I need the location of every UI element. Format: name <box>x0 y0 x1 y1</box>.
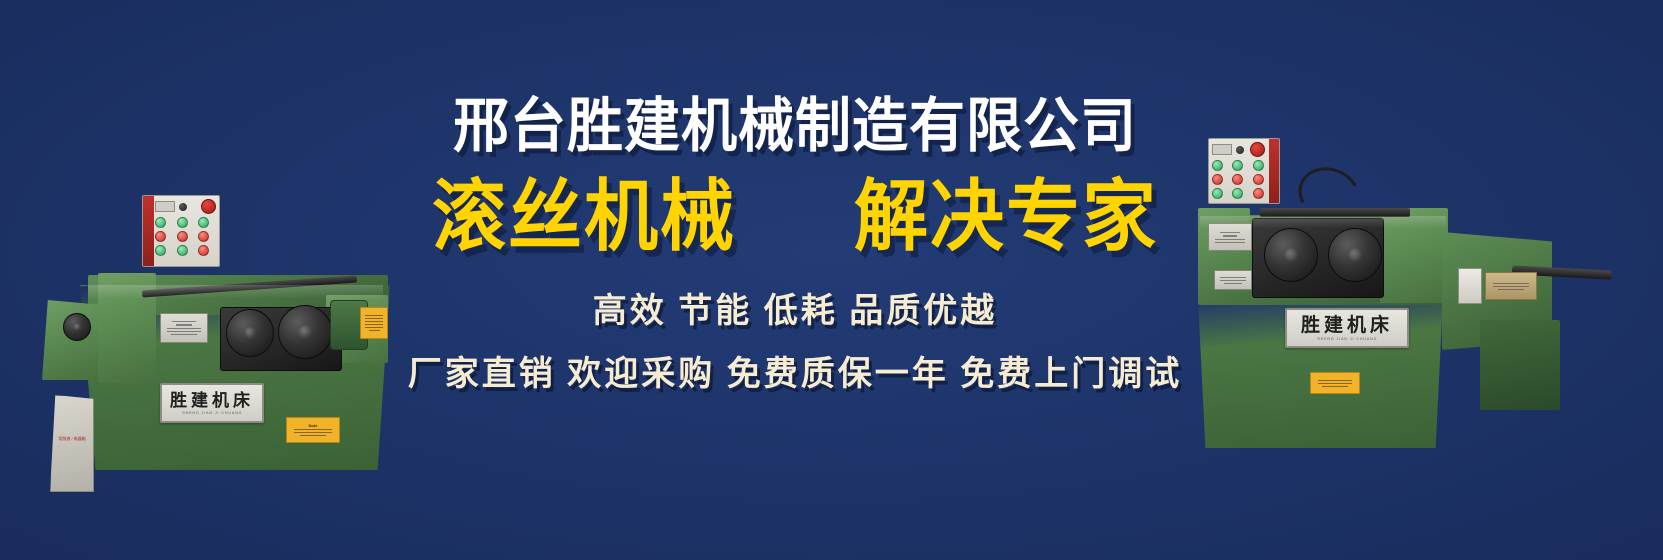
machine-right-roller-1 <box>1264 228 1318 282</box>
emergency-stop-button[interactable] <box>201 199 216 214</box>
side-cabinet-text: 切削液 / 电器箱 <box>51 436 93 442</box>
machine-right-brass-plate <box>1485 272 1537 300</box>
panel-top-row <box>1212 142 1269 157</box>
panel-button[interactable] <box>1212 188 1223 199</box>
warning-label-title: Note <box>309 423 318 428</box>
machine-left-roller-1 <box>226 309 274 357</box>
tagline-secondary: 厂家直销 欢迎采购 免费质保一年 免费上门调试 <box>395 346 1195 395</box>
panel-button-grid <box>155 217 216 256</box>
panel-button[interactable] <box>1232 174 1243 185</box>
panel-button[interactable] <box>155 245 166 256</box>
panel-button[interactable] <box>155 231 166 242</box>
slogan-right: 解决专家 <box>854 176 1158 258</box>
panel-button-grid <box>1212 160 1269 199</box>
machine-left-spec-plate <box>160 313 208 343</box>
emergency-stop-button[interactable] <box>1250 142 1265 157</box>
machine-left-control-panel <box>142 195 220 267</box>
panel-button[interactable] <box>177 245 188 256</box>
panel-button[interactable] <box>198 217 209 228</box>
machine-right-nameplate: 胜建机床 SHENG JIAN JI CHUANG <box>1285 308 1409 348</box>
panel-top-row <box>155 199 216 214</box>
machine-left-spindle-left <box>63 313 91 341</box>
panel-red-side <box>1269 139 1279 203</box>
machine-left-photo: 切削液 / 电器箱 <box>30 95 420 470</box>
panel-button[interactable] <box>1253 160 1264 171</box>
promo-banner: 切削液 / 电器箱 <box>0 0 1663 560</box>
nameplate-pinyin: SHENG JIAN JI CHUANG <box>182 411 242 415</box>
machine-left-nameplate: 胜建机床 SHENG JIAN JI CHUANG <box>160 383 264 423</box>
banner-text-block: 邢台胜建机械制造有限公司 滚丝机械 解决专家 高效 节能 低耗 品质优越 厂家直… <box>395 95 1195 425</box>
nameplate-chinese: 胜建机床 <box>170 392 254 409</box>
panel-knob-icon <box>179 203 187 211</box>
machine-left-spec-label <box>360 307 388 339</box>
machine-left-highlight <box>88 285 383 299</box>
machine-right-photo: 胜建机床 SHENG JIAN JI CHUANG <box>1180 120 1635 450</box>
panel-button[interactable] <box>198 245 209 256</box>
machine-right-spec-plate-2 <box>1214 270 1252 290</box>
panel-display <box>1212 144 1232 155</box>
panel-button[interactable] <box>1212 174 1223 185</box>
machine-right-highlight <box>1200 216 1446 228</box>
slogan-row: 滚丝机械 解决专家 <box>395 176 1195 254</box>
panel-button[interactable] <box>177 231 188 242</box>
machine-left-side-cabinet: 切削液 / 电器箱 <box>50 395 94 492</box>
panel-button[interactable] <box>155 217 166 228</box>
slogan-left: 滚丝机械 <box>432 176 736 258</box>
panel-button[interactable] <box>1212 160 1223 171</box>
panel-button[interactable] <box>1232 160 1243 171</box>
panel-display <box>155 201 175 212</box>
company-name: 邢台胜建机械制造有限公司 <box>395 95 1195 157</box>
machine-left-roller-2 <box>278 305 332 359</box>
machine-left-warning-label: Note <box>286 417 340 443</box>
panel-red-side <box>143 196 154 266</box>
machine-right-control-panel <box>1208 138 1280 204</box>
panel-button[interactable] <box>177 217 188 228</box>
panel-button[interactable] <box>1232 188 1243 199</box>
machine-right-roller-2 <box>1328 228 1382 282</box>
nameplate-pinyin: SHENG JIAN JI CHUANG <box>1317 337 1377 341</box>
machine-right-outfeed-lower <box>1480 320 1560 410</box>
nameplate-chinese: 胜建机床 <box>1301 316 1393 335</box>
panel-button[interactable] <box>198 231 209 242</box>
machine-right-warning-label <box>1310 372 1360 394</box>
tagline-primary: 高效 节能 低耗 品质优越 <box>395 283 1195 332</box>
panel-button[interactable] <box>1253 188 1264 199</box>
panel-knob-icon <box>1236 146 1244 154</box>
panel-button[interactable] <box>1253 174 1264 185</box>
machine-right-valve-box <box>1458 268 1482 304</box>
